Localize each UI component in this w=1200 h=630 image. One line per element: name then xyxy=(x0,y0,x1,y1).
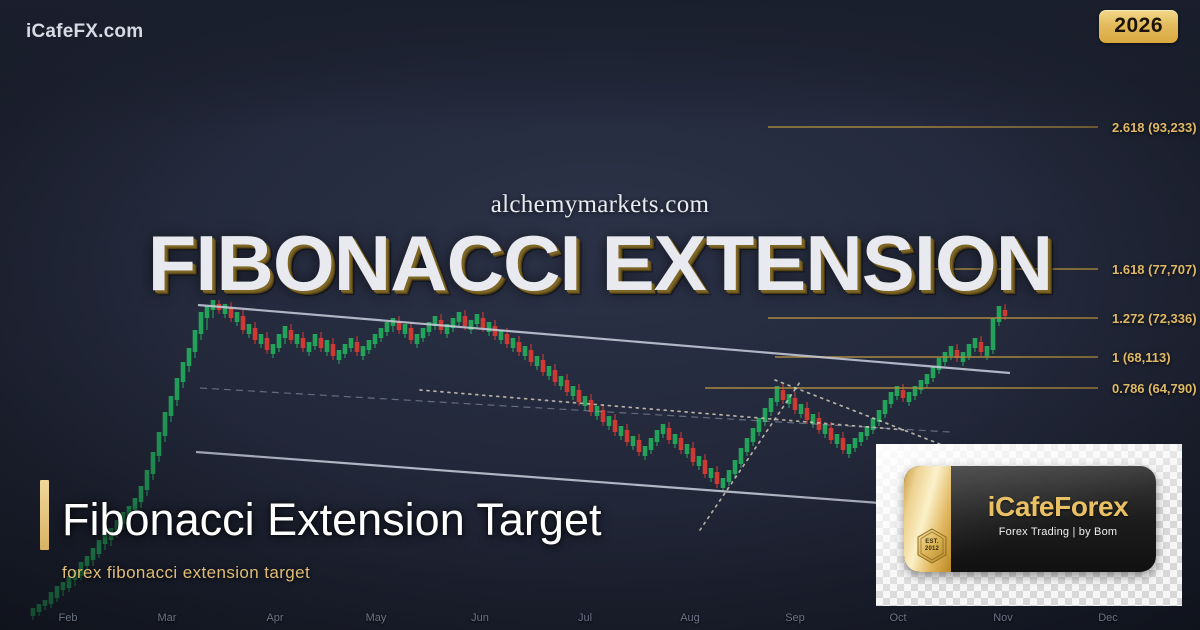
site-name: iCafeFX.com xyxy=(26,21,143,43)
est-seal-line1: EST. xyxy=(925,539,938,547)
brand-logo-card: iCafeForex Forex Trading | by Bom EST. 2… xyxy=(876,444,1182,606)
x-axis-tick: Mar xyxy=(158,612,177,624)
x-axis-tick: Jun xyxy=(471,612,489,624)
est-seal-line2: 2012 xyxy=(925,546,939,554)
page-title: Fibonacci Extension Target xyxy=(62,494,601,546)
x-axis-tick: Nov xyxy=(993,612,1013,624)
est-seal-text: EST. 2012 xyxy=(916,528,948,564)
source-site-watermark: alchemymarkets.com xyxy=(0,191,1200,219)
x-axis-month-labels: FebMarAprMayJunJulAugSepOctNovDec xyxy=(0,612,1200,630)
x-axis-tick: Apr xyxy=(266,612,283,624)
brand-name: iCafeForex xyxy=(970,491,1146,523)
year-badge: 2026 xyxy=(1099,10,1178,43)
x-axis-tick: Dec xyxy=(1098,612,1118,624)
x-axis-tick: Oct xyxy=(889,612,906,624)
x-axis-tick: Sep xyxy=(785,612,805,624)
x-axis-tick: Feb xyxy=(59,612,78,624)
infographic-canvas: iCafeFX.com 2026 alchemymarkets.com FIBO… xyxy=(0,0,1200,630)
fib-level-label: 1.272 (72,336) xyxy=(1112,311,1197,326)
x-axis-tick: Jul xyxy=(578,612,592,624)
x-axis-tick: Aug xyxy=(680,612,700,624)
brand-logo-badge: iCafeForex Forex Trading | by Bom EST. 2… xyxy=(904,466,1156,572)
brand-tagline: Forex Trading | by Bom xyxy=(970,526,1146,538)
title-accent-bar xyxy=(40,480,49,550)
fib-level-label: 2.618 (93,233) xyxy=(1112,120,1197,135)
page-subtitle: forex fibonacci extension target xyxy=(62,563,310,583)
headline-watermark: FIBONACCI EXTENSION xyxy=(0,218,1200,309)
fib-level-label: 1.618 (77,707) xyxy=(1112,262,1197,277)
fib-level-label: 1 (68,113) xyxy=(1112,350,1171,365)
x-axis-tick: May xyxy=(366,612,387,624)
fib-level-label: 0.786 (64,790) xyxy=(1112,381,1197,396)
